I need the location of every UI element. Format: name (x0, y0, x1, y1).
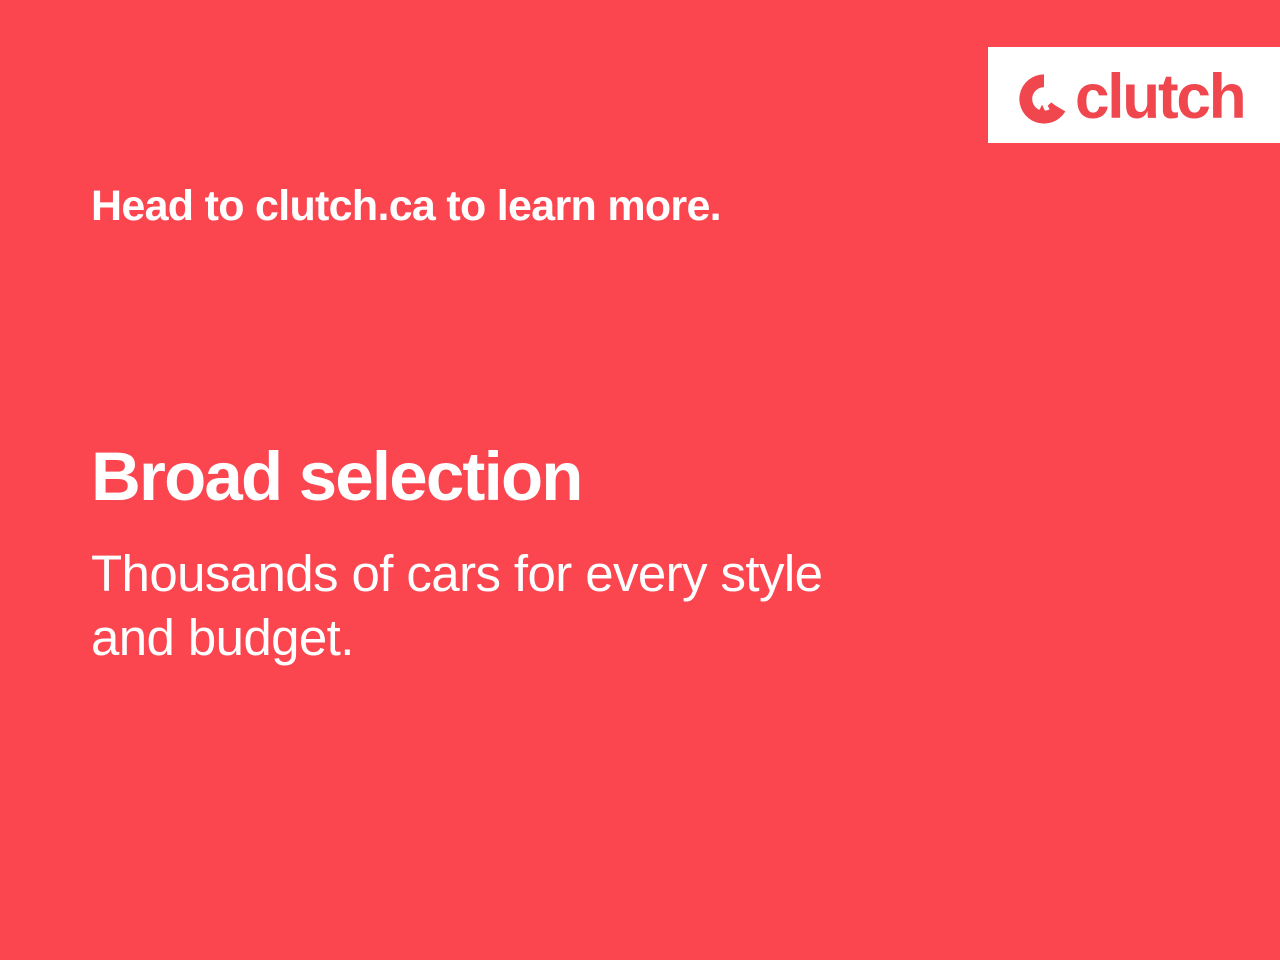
brand-logo-box: clutch (988, 47, 1280, 143)
subheadline-line-2: and budget. (91, 606, 1051, 670)
clutch-c-mark-icon (1016, 71, 1072, 127)
kicker-text: Head to clutch.ca to learn more. (91, 180, 721, 232)
promo-slide: clutch Head to clutch.ca to learn more. … (0, 0, 1280, 960)
subheadline-line-1: Thousands of cars for every style (91, 542, 1051, 606)
clutch-logo-lockup: clutch (1016, 64, 1244, 126)
subheadline: Thousands of cars for every style and bu… (91, 542, 1051, 670)
clutch-wordmark: clutch (1075, 69, 1244, 126)
page-title: Broad selection (91, 438, 582, 516)
